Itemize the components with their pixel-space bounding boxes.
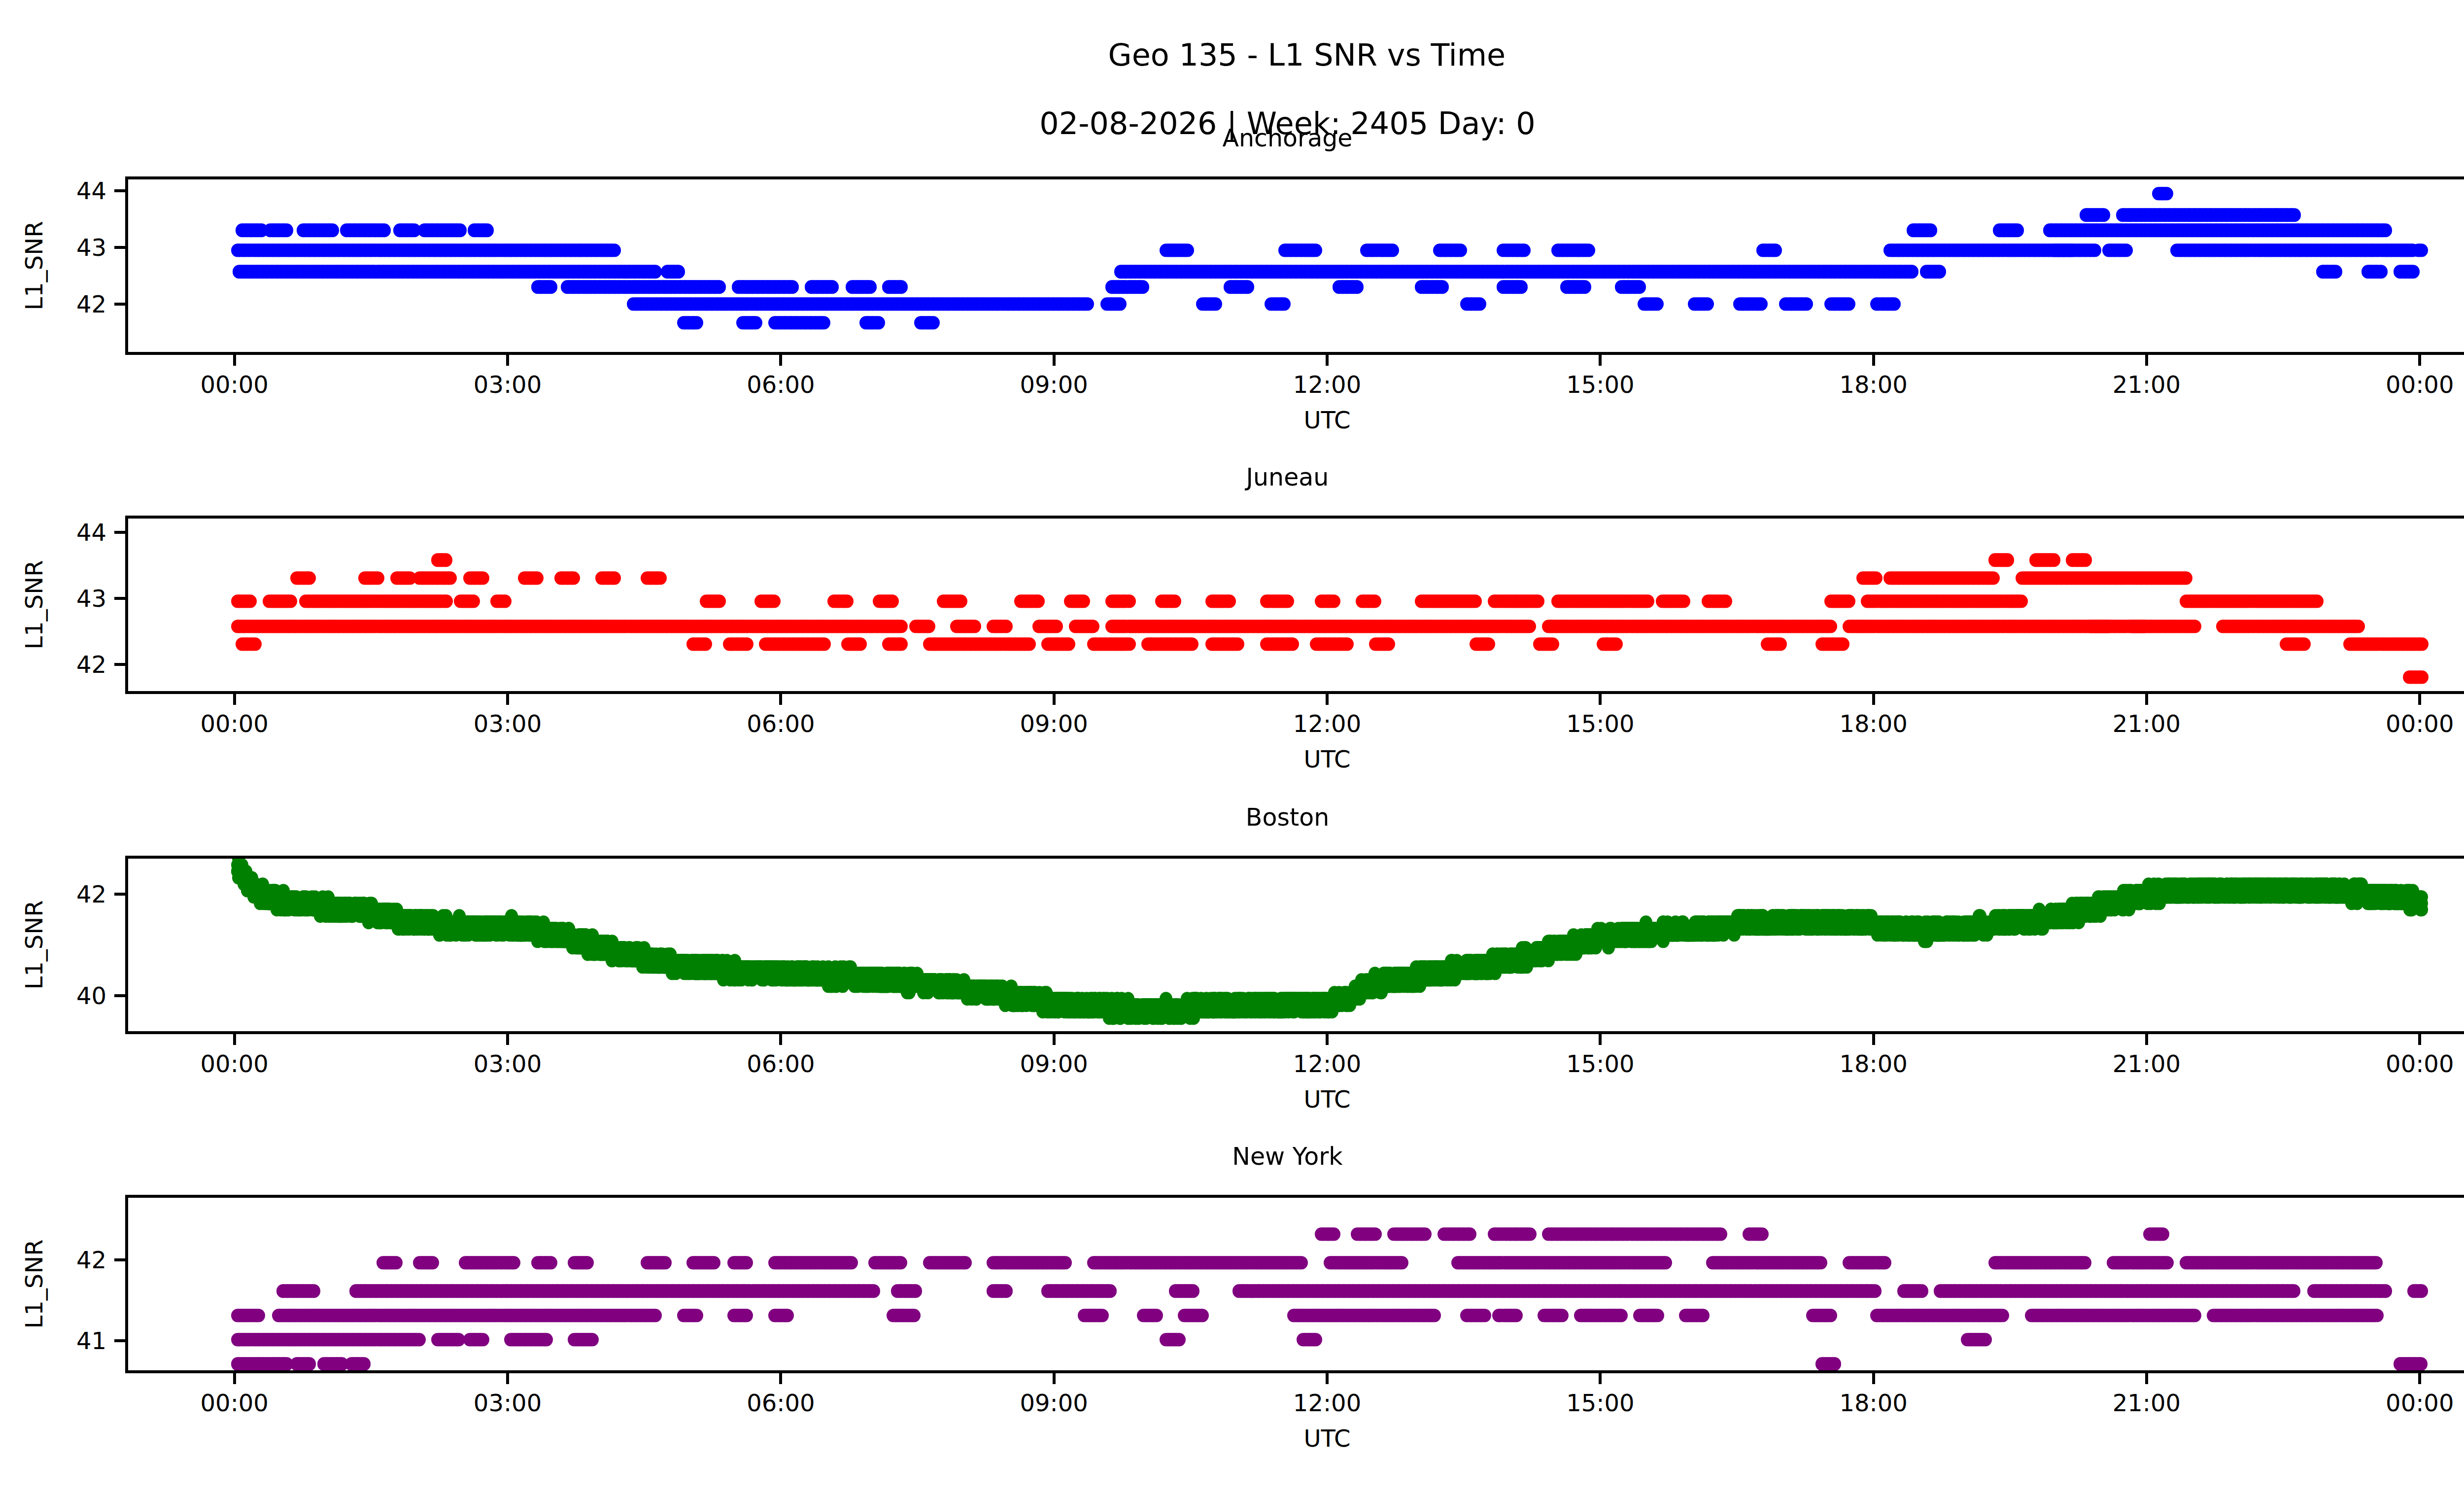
data-point xyxy=(1396,1256,1408,1269)
x-tick-label: 15:00 xyxy=(1566,710,1634,737)
data-point xyxy=(358,1357,371,1371)
x-tick-label: 06:00 xyxy=(747,710,815,737)
x-tick-label: 21:00 xyxy=(2113,371,2181,398)
data-point xyxy=(540,1333,553,1346)
data-point xyxy=(1774,637,1787,651)
data-point xyxy=(608,243,621,257)
data-point xyxy=(1615,1309,1628,1322)
x-tick-mark xyxy=(779,1034,782,1045)
data-point xyxy=(1979,1333,1992,1346)
x-tick-label: 15:00 xyxy=(1566,1050,1634,1078)
data-point xyxy=(284,594,297,608)
data-point xyxy=(740,1256,753,1269)
data-point xyxy=(1196,1309,1209,1322)
data-point xyxy=(2288,1285,2300,1298)
data-point xyxy=(1824,1309,1837,1322)
x-tick-mark xyxy=(506,694,509,705)
x-tick-label: 09:00 xyxy=(1020,1389,1088,1417)
data-point xyxy=(909,1285,922,1298)
x-tick-label: 00:00 xyxy=(2386,710,2454,737)
x-tick-mark xyxy=(779,355,782,366)
data-point xyxy=(886,594,899,608)
x-tick-mark xyxy=(1053,1034,1056,1045)
x-tick-label: 03:00 xyxy=(474,1050,542,1078)
data-point xyxy=(1578,280,1591,294)
y-tick-label: 43 xyxy=(76,234,106,261)
data-point xyxy=(1888,297,1901,311)
data-point xyxy=(872,316,885,329)
data-point xyxy=(1428,1309,1441,1322)
data-point xyxy=(2311,594,2324,608)
data-point xyxy=(1473,297,1486,311)
data-point xyxy=(1697,1309,1710,1322)
data-point xyxy=(1701,297,1714,311)
data-point xyxy=(908,1309,921,1322)
x-axis-label: UTC xyxy=(1303,1425,1350,1452)
x-tick-label: 18:00 xyxy=(1839,1050,1907,1078)
data-point xyxy=(1523,620,1536,633)
data-point xyxy=(1659,1256,1672,1269)
data-point xyxy=(477,1333,489,1346)
y-axis-label: L1_SNR xyxy=(20,221,48,310)
data-point xyxy=(2189,1309,2201,1322)
panel-title: Juneau xyxy=(0,463,2464,491)
x-tick-label: 21:00 xyxy=(2113,1389,2181,1417)
data-point xyxy=(444,571,457,585)
data-point xyxy=(1150,1309,1163,1322)
data-point xyxy=(1756,1227,1769,1241)
data-point xyxy=(654,571,667,585)
data-point xyxy=(1281,594,1294,608)
data-point xyxy=(1814,1256,1827,1269)
y-tick-label: 41 xyxy=(76,1327,106,1355)
data-point xyxy=(390,1256,403,1269)
x-tick-label: 18:00 xyxy=(1839,1389,1907,1417)
data-point xyxy=(1295,1256,1308,1269)
y-tick-label: 42 xyxy=(76,651,106,678)
data-point xyxy=(531,571,544,585)
suptitle-line-1: Geo 135 - L1 SNR vs Time xyxy=(1108,37,1506,73)
data-point xyxy=(1059,1256,1072,1269)
data-point xyxy=(708,1256,720,1269)
data-point xyxy=(1518,243,1531,257)
x-tick-mark xyxy=(1326,694,1329,705)
data-point xyxy=(2079,554,2092,567)
data-point xyxy=(1906,265,1918,278)
data-point xyxy=(895,620,908,633)
data-point xyxy=(567,571,580,585)
data-point xyxy=(1869,1285,1882,1298)
x-tick-label: 06:00 xyxy=(747,1389,815,1417)
data-point xyxy=(1286,637,1299,651)
data-point xyxy=(2138,620,2151,633)
x-tick-mark xyxy=(1872,1034,1875,1045)
data-point xyxy=(1114,297,1127,311)
data-point xyxy=(545,280,557,294)
x-tick-mark xyxy=(233,694,236,705)
data-point xyxy=(372,571,384,585)
y-tick-label: 42 xyxy=(76,1246,106,1274)
data-point xyxy=(2160,187,2173,200)
data-point xyxy=(378,224,391,237)
data-point xyxy=(1419,1227,1432,1241)
data-point xyxy=(864,280,877,294)
data-point xyxy=(2370,1256,2383,1269)
data-point xyxy=(1996,1309,2009,1322)
data-point xyxy=(1351,280,1364,294)
data-point xyxy=(854,637,867,651)
data-point xyxy=(1469,594,1482,608)
data-point xyxy=(2415,243,2428,257)
x-tick-label: 12:00 xyxy=(1293,371,1361,398)
data-point xyxy=(608,571,621,585)
data-point xyxy=(1209,297,1222,311)
data-point xyxy=(2416,670,2429,684)
data-point xyxy=(1755,297,1768,311)
data-point xyxy=(1436,280,1449,294)
x-tick-mark xyxy=(233,355,236,366)
data-point xyxy=(826,280,839,294)
y-tick-mark xyxy=(114,893,125,896)
data-point xyxy=(1232,637,1244,651)
data-point xyxy=(1087,620,1099,633)
x-tick-mark xyxy=(2418,355,2421,366)
data-point xyxy=(326,224,339,237)
data-point xyxy=(841,594,854,608)
data-point xyxy=(2375,265,2388,278)
x-tick-label: 00:00 xyxy=(201,1389,269,1417)
data-point xyxy=(413,1333,426,1346)
data-point xyxy=(1241,280,1254,294)
data-point xyxy=(1309,243,1322,257)
x-tick-mark xyxy=(1872,355,1875,366)
x-tick-label: 09:00 xyxy=(1020,710,1088,737)
data-point xyxy=(1081,297,1094,311)
data-point xyxy=(649,265,662,278)
data-point xyxy=(741,637,753,651)
data-point xyxy=(1843,297,1855,311)
y-tick-label: 42 xyxy=(76,290,106,318)
data-point xyxy=(968,620,981,633)
data-point xyxy=(2352,620,2365,633)
y-tick-mark xyxy=(114,303,125,306)
data-point xyxy=(1181,243,1194,257)
x-tick-mark xyxy=(1326,1373,1329,1384)
data-point xyxy=(2415,890,2428,904)
data-point xyxy=(249,637,262,651)
data-point xyxy=(1524,1227,1537,1241)
data-point xyxy=(740,1309,753,1322)
x-axis-label: UTC xyxy=(1303,406,1350,434)
data-point xyxy=(1382,637,1395,651)
y-tick-mark xyxy=(114,246,125,249)
data-point xyxy=(894,1256,907,1269)
data-point xyxy=(2415,1357,2428,1371)
x-tick-label: 00:00 xyxy=(2386,1389,2454,1417)
y-tick-mark xyxy=(114,663,125,666)
x-tick-label: 21:00 xyxy=(2113,1050,2181,1078)
data-point xyxy=(1582,243,1595,257)
data-point xyxy=(1062,637,1075,651)
data-point xyxy=(2156,1227,2169,1241)
data-point xyxy=(2011,224,2024,237)
data-point xyxy=(1677,594,1690,608)
x-tick-mark xyxy=(2418,694,2421,705)
y-tick-mark xyxy=(114,1339,125,1342)
x-tick-label: 00:00 xyxy=(2386,1050,2454,1078)
x-tick-mark xyxy=(1872,1373,1875,1384)
data-point xyxy=(1987,571,2000,585)
data-point xyxy=(1933,265,1946,278)
data-point xyxy=(955,594,967,608)
x-tick-mark xyxy=(1599,355,1602,366)
data-point xyxy=(2001,554,2014,567)
data-point xyxy=(768,594,781,608)
y-tick-label: 43 xyxy=(76,585,106,612)
y-tick-label: 44 xyxy=(76,177,106,205)
x-tick-mark xyxy=(2145,1034,2148,1045)
y-tick-mark xyxy=(114,189,125,192)
data-point xyxy=(2416,637,2429,651)
data-point xyxy=(2371,1309,2384,1322)
x-tick-mark xyxy=(779,1373,782,1384)
data-point xyxy=(1341,637,1354,651)
x-tick-label: 00:00 xyxy=(201,1050,269,1078)
x-tick-mark xyxy=(2418,1034,2421,1045)
data-point xyxy=(280,224,293,237)
data-point xyxy=(1309,1333,1322,1346)
x-tick-mark xyxy=(1326,355,1329,366)
x-tick-mark xyxy=(2145,1373,2148,1384)
data-point xyxy=(2415,903,2428,916)
data-point xyxy=(1610,637,1623,651)
x-tick-label: 09:00 xyxy=(1020,1050,1088,1078)
data-point xyxy=(586,1333,599,1346)
data-point xyxy=(545,1256,557,1269)
x-tick-label: 03:00 xyxy=(474,710,542,737)
x-tick-label: 06:00 xyxy=(747,1050,815,1078)
x-tick-mark xyxy=(1326,1034,1329,1045)
y-axis-label: L1_SNR xyxy=(20,900,48,989)
data-point xyxy=(1328,1227,1340,1241)
data-point xyxy=(1714,1227,1727,1241)
data-point xyxy=(2066,243,2079,257)
x-axis-label: UTC xyxy=(1303,1085,1350,1113)
x-tick-mark xyxy=(506,355,509,366)
y-tick-mark xyxy=(114,531,125,534)
data-point xyxy=(252,1309,265,1322)
data-point xyxy=(845,1256,858,1269)
data-point xyxy=(1123,594,1136,608)
x-tick-mark xyxy=(233,1373,236,1384)
data-point xyxy=(1173,1333,1186,1346)
x-tick-mark xyxy=(779,694,782,705)
x-tick-label: 18:00 xyxy=(1839,710,1907,737)
x-tick-label: 15:00 xyxy=(1566,371,1634,398)
y-tick-mark xyxy=(114,994,125,997)
data-point xyxy=(1800,297,1813,311)
data-point xyxy=(818,316,830,329)
data-point xyxy=(1050,620,1063,633)
plot-area xyxy=(125,176,2464,355)
data-point xyxy=(2161,1256,2174,1269)
data-point xyxy=(1482,637,1495,651)
x-tick-label: 21:00 xyxy=(2113,710,2181,737)
x-tick-label: 09:00 xyxy=(1020,371,1088,398)
data-point xyxy=(895,280,908,294)
data-point xyxy=(1328,594,1340,608)
data-point xyxy=(1916,1285,1928,1298)
data-point xyxy=(1187,1285,1199,1298)
x-tick-label: 06:00 xyxy=(747,371,815,398)
data-point xyxy=(1515,280,1528,294)
data-point xyxy=(1369,1227,1382,1241)
data-point xyxy=(1023,637,1036,651)
y-axis-label: L1_SNR xyxy=(20,1239,48,1328)
x-tick-mark xyxy=(1053,1373,1056,1384)
data-point xyxy=(1104,1285,1117,1298)
x-tick-mark xyxy=(2418,1373,2421,1384)
x-tick-mark xyxy=(233,1034,236,1045)
data-point xyxy=(426,1256,439,1269)
data-point xyxy=(2102,620,2115,633)
data-point xyxy=(1369,594,1381,608)
x-tick-label: 03:00 xyxy=(474,1389,542,1417)
x-tick-mark xyxy=(1599,1034,1602,1045)
data-point xyxy=(1386,243,1399,257)
data-point xyxy=(1642,594,1654,608)
plot-area xyxy=(125,516,2464,694)
data-point xyxy=(1168,594,1181,608)
data-point xyxy=(1136,280,1149,294)
data-point xyxy=(1096,1309,1109,1322)
data-point xyxy=(1532,594,1544,608)
data-point xyxy=(308,1285,320,1298)
data-point xyxy=(2048,554,2060,567)
x-axis-label: UTC xyxy=(1303,745,1350,773)
data-point xyxy=(1556,1309,1569,1322)
data-point xyxy=(1223,594,1236,608)
data-point xyxy=(1077,594,1090,608)
x-tick-mark xyxy=(1599,694,1602,705)
data-point xyxy=(2088,243,2101,257)
data-point xyxy=(1824,620,1837,633)
x-tick-mark xyxy=(1053,694,1056,705)
data-point xyxy=(244,594,257,608)
data-point xyxy=(1000,620,1013,633)
data-point xyxy=(440,594,453,608)
data-point xyxy=(1464,1227,1476,1241)
data-point xyxy=(713,280,726,294)
data-point xyxy=(781,1309,794,1322)
data-point xyxy=(467,594,480,608)
data-point xyxy=(1879,1256,1891,1269)
data-point xyxy=(303,1357,316,1371)
data-point xyxy=(454,224,467,237)
x-tick-label: 12:00 xyxy=(1293,1389,1361,1417)
data-point xyxy=(481,224,494,237)
data-point xyxy=(1651,1309,1664,1322)
data-point xyxy=(1278,297,1291,311)
x-tick-label: 12:00 xyxy=(1293,710,1361,737)
x-tick-label: 00:00 xyxy=(201,371,269,398)
data-point xyxy=(1546,637,1559,651)
panel-title: New York xyxy=(0,1143,2464,1171)
data-point xyxy=(2288,209,2301,222)
data-point xyxy=(2298,637,2311,651)
x-tick-mark xyxy=(2145,355,2148,366)
x-tick-label: 18:00 xyxy=(1839,371,1907,398)
data-point xyxy=(1123,637,1136,651)
data-point xyxy=(2379,224,2392,237)
data-point xyxy=(649,1309,662,1322)
data-point xyxy=(699,637,712,651)
data-point xyxy=(1870,571,1882,585)
data-point xyxy=(1454,243,1467,257)
x-tick-mark xyxy=(506,1034,509,1045)
data-point xyxy=(1510,1309,1523,1322)
y-tick-label: 40 xyxy=(76,982,106,1009)
data-point xyxy=(1828,1357,1841,1371)
data-point xyxy=(713,594,726,608)
data-point xyxy=(690,1309,703,1322)
x-tick-label: 03:00 xyxy=(474,371,542,398)
data-point xyxy=(508,1256,520,1269)
data-point xyxy=(1478,1309,1491,1322)
x-tick-label: 15:00 xyxy=(1566,1389,1634,1417)
data-point xyxy=(1769,243,1782,257)
x-tick-label: 12:00 xyxy=(1293,1050,1361,1078)
data-point xyxy=(1843,594,1855,608)
data-point xyxy=(672,265,685,278)
x-tick-mark xyxy=(1599,1373,1602,1384)
data-point xyxy=(690,316,703,329)
x-tick-mark xyxy=(1053,355,1056,366)
data-point xyxy=(923,620,935,633)
data-point xyxy=(303,571,316,585)
data-point xyxy=(499,594,512,608)
data-point xyxy=(440,554,452,567)
plot-area xyxy=(125,1195,2464,1373)
y-tick-label: 42 xyxy=(76,880,106,908)
data-point xyxy=(959,1256,972,1269)
data-point xyxy=(1924,224,1937,237)
data-point xyxy=(581,1256,594,1269)
data-point xyxy=(1719,594,1732,608)
data-point xyxy=(1000,1285,1013,1298)
data-point xyxy=(2079,1256,2091,1269)
data-point xyxy=(477,571,489,585)
y-tick-mark xyxy=(114,1258,125,1261)
y-tick-mark xyxy=(114,597,125,600)
data-point xyxy=(2015,594,2028,608)
x-tick-mark xyxy=(1872,694,1875,705)
data-point xyxy=(1186,637,1198,651)
data-point xyxy=(895,637,908,651)
x-tick-mark xyxy=(506,1373,509,1384)
data-point xyxy=(2180,571,2192,585)
data-point xyxy=(659,1256,672,1269)
panel-title: Boston xyxy=(0,803,2464,832)
data-point xyxy=(2097,209,2110,222)
data-point xyxy=(2189,620,2201,633)
data-point xyxy=(1633,280,1646,294)
data-point xyxy=(867,1285,880,1298)
data-point xyxy=(750,316,762,329)
data-point xyxy=(2379,1285,2392,1298)
x-tick-label: 00:00 xyxy=(201,710,269,737)
data-point xyxy=(1651,297,1664,311)
